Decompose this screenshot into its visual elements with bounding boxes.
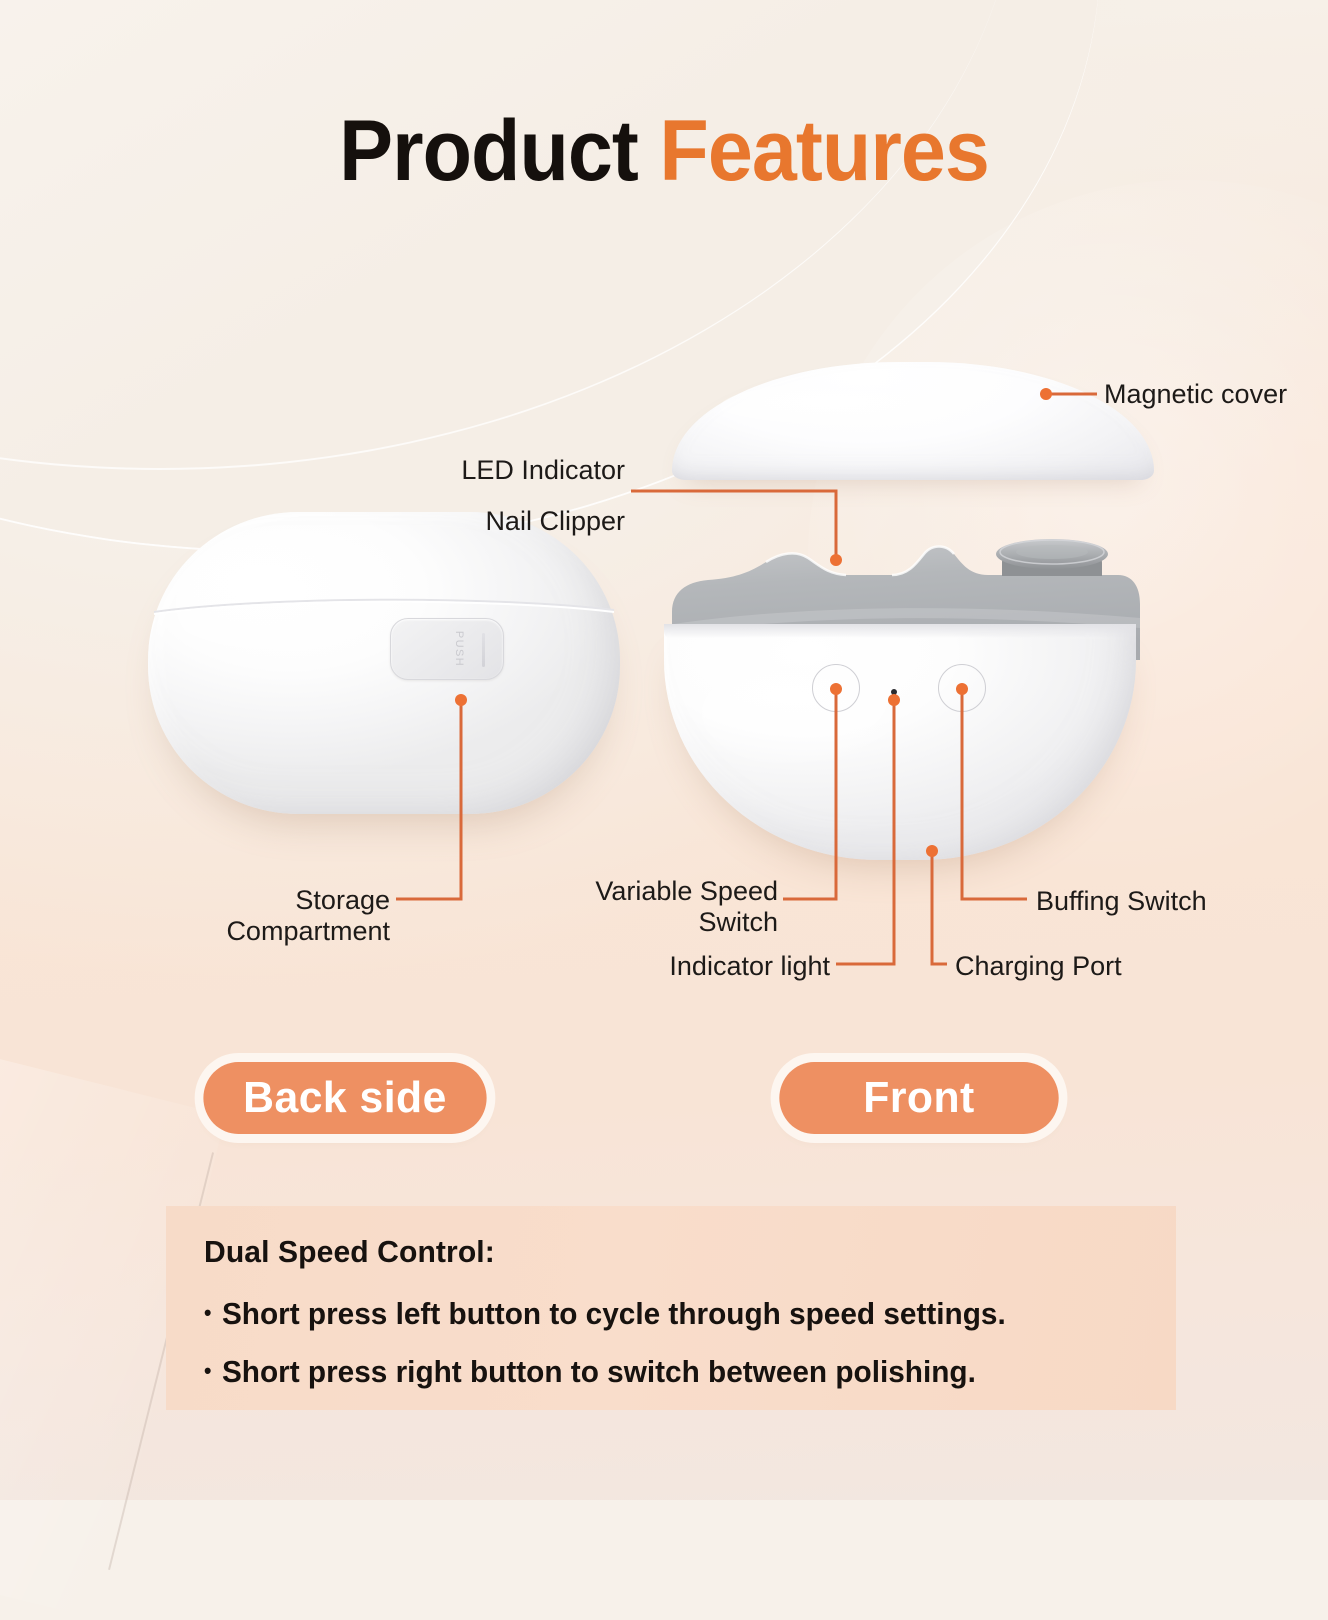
callout-label-storage-compartment-line2: Compartment — [20, 915, 390, 948]
view-pill-back-side-label: Back side — [243, 1073, 447, 1123]
dual-speed-control-box: Dual Speed Control: • Short press left b… — [166, 1206, 1176, 1410]
device-back-body — [148, 512, 620, 814]
dual-speed-control-item-1: • Short press left button to cycle throu… — [204, 1296, 1101, 1332]
variable-speed-button[interactable] — [812, 664, 860, 712]
bullet-icon: • — [204, 1360, 211, 1382]
callout-label-variable-speed-line1: Variable Speed — [400, 875, 778, 908]
dual-speed-control-item-2: • Short press right button to switch bet… — [204, 1354, 1101, 1390]
device-front — [650, 528, 1150, 858]
dual-speed-control-item-1-text: Short press left button to cycle through… — [222, 1296, 1006, 1332]
callout-label-nail-clipper: Nail Clipper — [250, 505, 625, 538]
callout-label-magnetic-cover: Magnetic cover — [1104, 378, 1287, 411]
device-push-latch[interactable]: PUSH — [390, 618, 504, 680]
bullet-icon: • — [204, 1302, 211, 1324]
buffing-button[interactable] — [938, 664, 986, 712]
callout-label-variable-speed-line2: Switch — [400, 906, 778, 939]
push-latch-label: PUSH — [453, 631, 465, 667]
view-pill-back-side[interactable]: Back side — [203, 1062, 486, 1134]
view-pill-front[interactable]: Front — [779, 1062, 1058, 1134]
dual-speed-control-title: Dual Speed Control: — [204, 1234, 1110, 1270]
callout-label-indicator-light: Indicator light — [450, 950, 830, 983]
device-magnetic-cover — [672, 362, 1154, 480]
page-title-accent: Features — [659, 103, 988, 199]
indicator-light-dot — [891, 689, 897, 695]
device-front-white-body — [664, 624, 1136, 860]
callout-label-led-indicator: LED Indicator — [250, 454, 625, 487]
callout-label-charging-port: Charging Port — [955, 950, 1122, 983]
dual-speed-control-item-2-text: Short press right button to switch betwe… — [222, 1354, 976, 1390]
push-latch-ridge — [482, 633, 485, 667]
view-pill-front-label: Front — [863, 1073, 974, 1123]
page-title-dark: Product — [339, 103, 659, 199]
page-title: Product Features — [40, 108, 1288, 194]
callout-label-buffing-switch: Buffing Switch — [1036, 885, 1207, 918]
callout-label-storage-compartment-line1: Storage — [20, 884, 390, 917]
